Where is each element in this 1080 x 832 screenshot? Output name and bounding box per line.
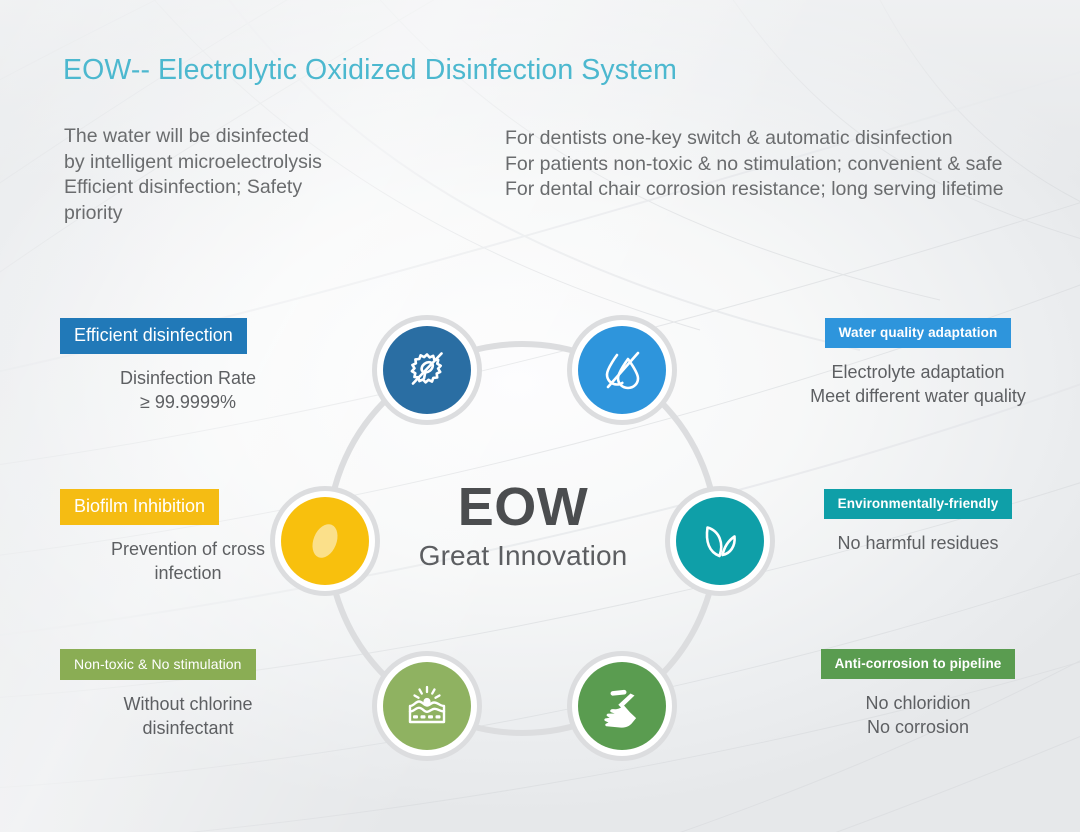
badge-wrap: Water quality adaptation xyxy=(790,318,1046,348)
wheel-node-anti-corrosion[interactable] xyxy=(572,656,672,756)
badge-wrap: Biofilm Inhibition xyxy=(60,489,316,525)
feature-block-biofilm-inhibition: Biofilm Inhibition Prevention of cross i… xyxy=(60,489,316,585)
intro-paragraph-left: The water will be disinfected by intelli… xyxy=(64,124,394,226)
intro-paragraph-right: For dentists one-key switch & automatic … xyxy=(505,126,1025,203)
page-title: EOW-- Electrolytic Oxidized Disinfection… xyxy=(63,54,677,87)
status-badge: Biofilm Inhibition xyxy=(60,489,219,525)
feature-body: Disinfection Rate ≥ 99.9999% xyxy=(60,366,316,414)
wheel-node-water-quality[interactable] xyxy=(572,320,672,420)
feature-wheel: EOW Great Innovation xyxy=(273,320,773,756)
skin-layer-sun-icon xyxy=(399,678,455,734)
wheel-node-efficient-disinfection[interactable] xyxy=(377,320,477,420)
feature-block-efficient-disinfection: Efficient disinfection Disinfection Rate… xyxy=(60,318,316,414)
status-badge: Environmentally-friendly xyxy=(824,489,1013,519)
status-badge: Efficient disinfection xyxy=(60,318,247,354)
badge-wrap: Anti-corrosion to pipeline xyxy=(790,649,1046,679)
wheel-node-non-toxic[interactable] xyxy=(377,656,477,756)
feature-block-environmentally-friendly: Environmentally-friendly No harmful resi… xyxy=(790,489,1046,555)
feature-body: No chloridion No corrosion xyxy=(790,691,1046,739)
status-badge: Non-toxic & No stimulation xyxy=(60,649,256,680)
infographic-slide: EOW-- Electrolytic Oxidized Disinfection… xyxy=(0,0,1080,832)
badge-wrap: Efficient disinfection xyxy=(60,318,316,354)
wheel-node-environmentally-friendly[interactable] xyxy=(670,491,770,591)
badge-wrap: Non-toxic & No stimulation xyxy=(60,649,316,680)
feature-body: Electrolyte adaptation Meet different wa… xyxy=(790,360,1046,408)
status-badge: Anti-corrosion to pipeline xyxy=(821,649,1016,679)
feature-body: Without chlorine disinfectant xyxy=(60,692,316,740)
feature-body: Prevention of cross infection xyxy=(60,537,316,585)
feature-block-water-quality: Water quality adaptation Electrolyte ada… xyxy=(790,318,1046,408)
status-badge: Water quality adaptation xyxy=(825,318,1012,348)
two-leaves-icon xyxy=(694,515,746,567)
badge-wrap: Environmentally-friendly xyxy=(790,489,1046,519)
hand-dental-tool-icon xyxy=(594,678,650,734)
bacteria-crossed-out-icon xyxy=(400,343,454,397)
feature-body: No harmful residues xyxy=(790,531,1046,555)
feature-block-non-toxic: Non-toxic & No stimulation Without chlor… xyxy=(60,649,316,740)
water-droplet-crossed-out-icon xyxy=(595,343,649,397)
feature-block-anti-corrosion: Anti-corrosion to pipeline No chloridion… xyxy=(790,649,1046,739)
